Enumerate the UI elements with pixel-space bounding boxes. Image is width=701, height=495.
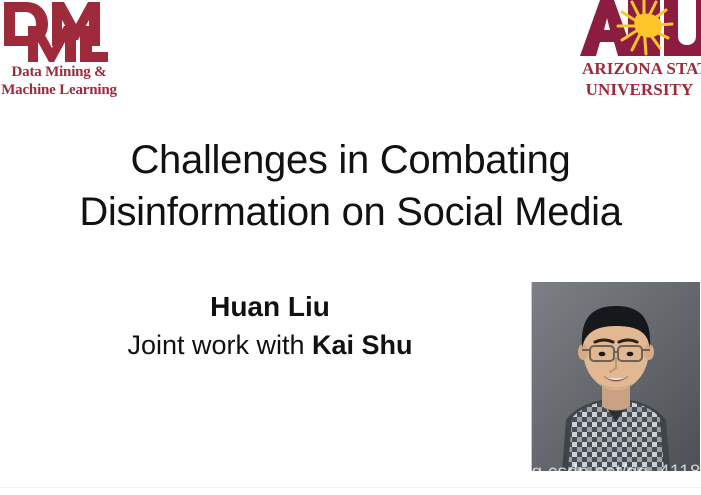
author-collaboration-line: Joint work with Kai Shu [30, 326, 510, 364]
asu-logo: ARIZONA STATE UNIVERSITY [578, 0, 701, 108]
author-block: Huan Liu Joint work with Kai Shu [30, 288, 510, 364]
dmml-tagline-line2: Machine Learning [0, 82, 118, 99]
author-name: Huan Liu [30, 288, 510, 326]
slide-title-line1: Challenges in Combating [0, 134, 701, 186]
collaborator-name: Kai Shu [312, 330, 413, 360]
slide-title-line2: Disinformation on Social Media [0, 186, 701, 238]
joint-work-prefix: Joint work with [127, 330, 312, 360]
dmml-monogram-icon [0, 0, 118, 66]
dmml-tagline-line1: Data Mining & [0, 64, 118, 81]
portrait-image [532, 282, 700, 471]
bottom-divider [0, 487, 701, 488]
slide-title: Challenges in Combating Disinformation o… [0, 134, 701, 238]
watermark-url: https://blog.csdn.net/qq_41185868 [447, 462, 701, 484]
portrait-photo [531, 282, 700, 471]
asu-wordmark-line1: ARIZONA STATE [582, 59, 701, 79]
asu-wordmark-line2: UNIVERSITY [578, 80, 701, 100]
presentation-slide: Data Mining & Machine Learning [0, 0, 701, 495]
dmml-logo: Data Mining & Machine Learning [0, 0, 118, 112]
asu-sunburst-monogram-icon [578, 0, 701, 58]
